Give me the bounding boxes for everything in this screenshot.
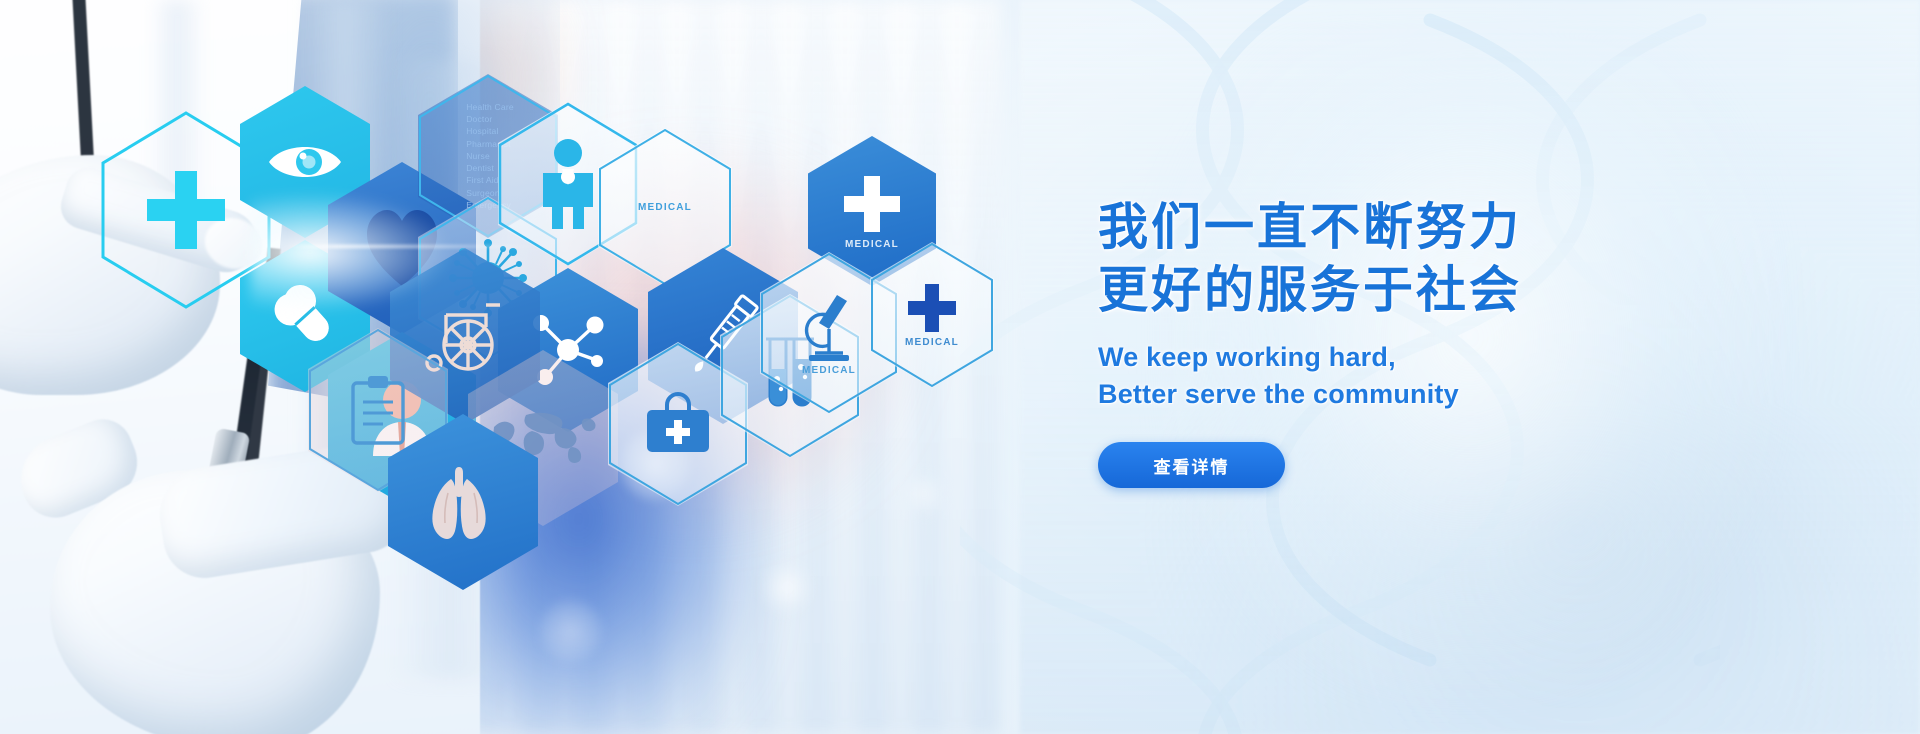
hero-text-block: 我们一直不断努力 更好的服务于社会 We keep working hard, … <box>1098 196 1618 488</box>
word-item: Health Care <box>466 101 514 113</box>
headline-line-2: 更好的服务于社会 <box>1098 259 1618 322</box>
word-item: Hospital <box>466 125 514 137</box>
clipboard-icon <box>350 374 406 446</box>
medical-label: MEDICAL <box>905 337 959 348</box>
headline-line-1: 我们一直不断努力 <box>1098 196 1618 259</box>
doctor-icon <box>535 137 601 231</box>
medical-label: MEDICAL <box>845 239 899 250</box>
medical-hero-banner: Health Care Doctor Hospital Pharmacist N… <box>0 0 1920 734</box>
medical-label: MEDICAL <box>802 365 856 376</box>
capsule-icon <box>274 285 336 347</box>
cross-icon <box>906 282 958 334</box>
hexagon-icon-field: Health Care Doctor Hospital Pharmacist N… <box>100 80 930 480</box>
lungs-icon <box>421 463 505 541</box>
subtitle-line-1: We keep working hard, <box>1098 340 1618 375</box>
word-item: Doctor <box>466 113 514 125</box>
medical-label: MEDICAL <box>638 202 692 213</box>
bokeh-dot <box>760 560 815 615</box>
cross-icon <box>143 167 229 253</box>
cross-icon <box>841 173 903 235</box>
microscope-icon <box>797 291 861 363</box>
subtitle-line-2: Better serve the community <box>1098 377 1618 412</box>
medical-bag-icon <box>643 392 713 456</box>
view-details-button[interactable]: 查看详情 <box>1098 442 1285 488</box>
eye-icon <box>267 138 343 186</box>
hexagon-light-ray <box>285 245 545 248</box>
